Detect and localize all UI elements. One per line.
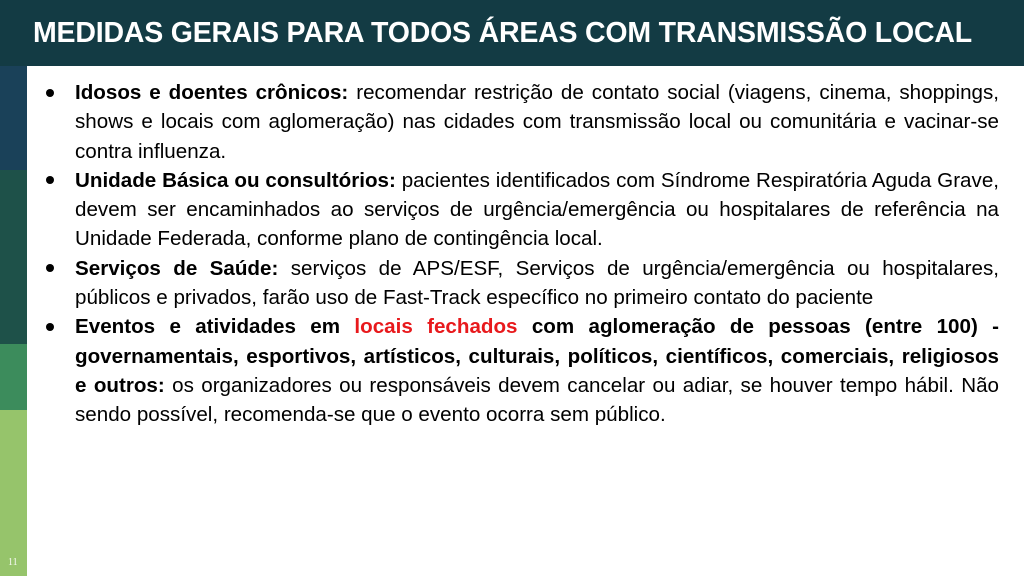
list-item: Eventos e atividades em locais fechados …	[33, 312, 999, 429]
list-item: Unidade Básica ou consultórios: paciente…	[33, 166, 999, 254]
bullet-lead: Serviços de Saúde:	[75, 257, 278, 280]
slide-body: Idosos e doentes crônicos: recomendar re…	[33, 78, 999, 570]
list-item: Idosos e doentes crônicos: recomendar re…	[33, 78, 999, 166]
rail-band-mid-green	[0, 344, 27, 410]
bullet-lead: Idosos e doentes crônicos:	[75, 81, 348, 104]
rail-band-light-green	[0, 410, 27, 576]
slide-title-bar: MEDIDAS GERAIS PARA TODOS ÁREAS COM TRAN…	[0, 0, 1024, 66]
bullet-list: Idosos e doentes crônicos: recomendar re…	[33, 78, 999, 430]
slide-canvas: MEDIDAS GERAIS PARA TODOS ÁREAS COM TRAN…	[0, 0, 1024, 576]
bullet-dot-icon	[46, 264, 54, 272]
rail-band-navy	[0, 66, 27, 170]
left-color-rail: 11	[0, 66, 27, 576]
rail-band-dark-green	[0, 170, 27, 344]
page-title: MEDIDAS GERAIS PARA TODOS ÁREAS COM TRAN…	[33, 19, 972, 48]
list-item: Serviços de Saúde: serviços de APS/ESF, …	[33, 254, 999, 313]
bullet-dot-icon	[46, 89, 54, 97]
bullet-text: os organizadores ou responsáveis devem c…	[75, 374, 999, 426]
bullet-dot-icon	[46, 176, 54, 184]
bullet-lead-part1: Eventos e atividades em	[75, 315, 354, 338]
page-number: 11	[8, 558, 18, 568]
highlighted-phrase: locais fechados	[354, 315, 517, 338]
bullet-lead: Unidade Básica ou consultórios:	[75, 169, 396, 192]
bullet-dot-icon	[46, 323, 54, 331]
